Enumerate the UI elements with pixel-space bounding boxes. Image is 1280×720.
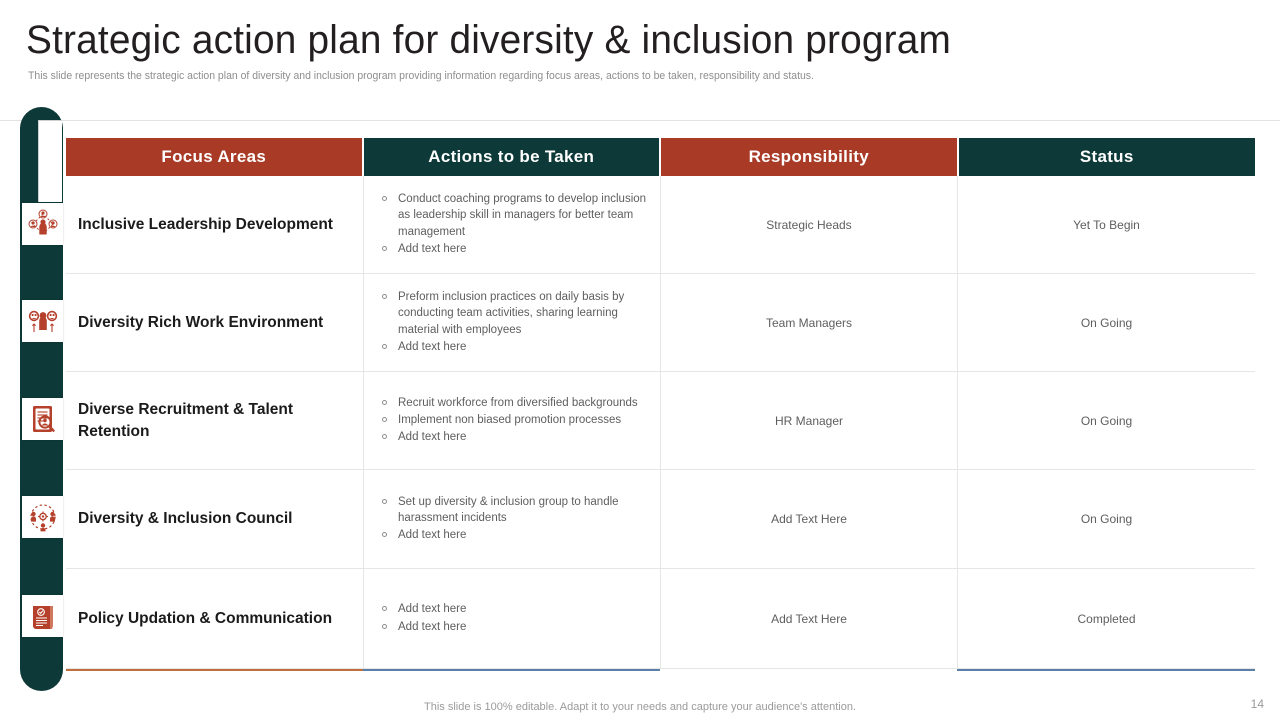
table-bottom-accent — [66, 669, 1255, 671]
table-body: Inclusive Leadership DevelopmentConduct … — [66, 176, 1255, 669]
responsibility-value: HR Manager — [775, 414, 843, 428]
action-item: Add text here — [380, 429, 638, 445]
focus-area-label: Diverse Recruitment & Talent Retention — [78, 399, 353, 443]
focus-area-label: Policy Updation & Communication — [78, 608, 332, 630]
table-row[interactable]: Policy Updation & CommunicationAdd text … — [66, 569, 1255, 669]
status-badge: On Going — [1081, 512, 1132, 526]
action-item: Set up diversity & inclusion group to ha… — [380, 494, 650, 527]
action-list: Add text hereAdd text here — [380, 601, 466, 636]
cell-responsibility: Team Managers — [660, 274, 957, 371]
accent-segment-4 — [957, 669, 1255, 671]
column-header-responsibility[interactable]: Responsibility — [661, 138, 957, 176]
action-item: Add text here — [380, 527, 650, 543]
cell-actions: Conduct coaching programs to develop inc… — [363, 176, 660, 273]
action-plan-table: Focus Areas Actions to be Taken Responsi… — [66, 138, 1255, 671]
action-item: Add text here — [380, 241, 650, 257]
responsibility-value: Team Managers — [766, 316, 852, 330]
focus-area-label: Diversity & Inclusion Council — [78, 508, 292, 530]
accent-segment-2 — [363, 669, 660, 671]
cell-status: On Going — [957, 372, 1255, 469]
table-header-row: Focus Areas Actions to be Taken Responsi… — [66, 138, 1255, 176]
action-item: Conduct coaching programs to develop inc… — [380, 191, 650, 240]
page-number: 14 — [1251, 697, 1264, 711]
cell-focus-area: Inclusive Leadership Development — [66, 176, 363, 273]
action-item: Preform inclusion practices on daily bas… — [380, 289, 650, 338]
cell-focus-area: Diversity Rich Work Environment — [66, 274, 363, 371]
cell-focus-area: Policy Updation & Communication — [66, 569, 363, 668]
action-item: Add text here — [380, 339, 650, 355]
table-row[interactable]: Diversity & Inclusion CouncilSet up dive… — [66, 470, 1255, 569]
page-title: Strategic action plan for diversity & in… — [26, 18, 951, 63]
focus-area-label: Inclusive Leadership Development — [78, 214, 333, 236]
table-row[interactable]: Diversity Rich Work EnvironmentPreform i… — [66, 274, 1255, 372]
cell-responsibility: Strategic Heads — [660, 176, 957, 273]
status-badge: Completed — [1077, 612, 1135, 626]
responsibility-value: Add Text Here — [771, 512, 847, 526]
recruitment-search-icon — [22, 398, 63, 440]
action-list: Set up diversity & inclusion group to ha… — [380, 494, 650, 545]
accent-segment-1 — [66, 669, 363, 671]
column-header-status[interactable]: Status — [959, 138, 1256, 176]
column-header-actions[interactable]: Actions to be Taken — [364, 138, 660, 176]
policy-document-icon — [22, 595, 63, 637]
table-row[interactable]: Diverse Recruitment & Talent RetentionRe… — [66, 372, 1255, 470]
column-header-focus-areas[interactable]: Focus Areas — [66, 138, 362, 176]
cell-responsibility: HR Manager — [660, 372, 957, 469]
action-list: Conduct coaching programs to develop inc… — [380, 191, 650, 258]
status-badge: On Going — [1081, 414, 1132, 428]
status-badge: On Going — [1081, 316, 1132, 330]
action-item: Add text here — [380, 601, 466, 617]
footer-note: This slide is 100% editable. Adapt it to… — [0, 701, 1280, 713]
cell-actions: Recruit workforce from diversified backg… — [363, 372, 660, 469]
inclusive-leadership-icon — [22, 203, 63, 245]
cell-focus-area: Diversity & Inclusion Council — [66, 470, 363, 568]
focus-area-label: Diversity Rich Work Environment — [78, 312, 323, 334]
left-accent-notch — [38, 120, 62, 202]
accent-segment-3 — [660, 669, 957, 671]
cell-actions: Preform inclusion practices on daily bas… — [363, 274, 660, 371]
responsibility-value: Strategic Heads — [766, 218, 851, 232]
action-item: Implement non biased promotion processes — [380, 412, 638, 428]
cell-status: On Going — [957, 470, 1255, 568]
diversity-workplace-icon — [22, 300, 63, 342]
cell-responsibility: Add Text Here — [660, 470, 957, 568]
cell-status: Completed — [957, 569, 1255, 668]
cell-actions: Add text hereAdd text here — [363, 569, 660, 668]
table-row[interactable]: Inclusive Leadership DevelopmentConduct … — [66, 176, 1255, 274]
cell-actions: Set up diversity & inclusion group to ha… — [363, 470, 660, 568]
header-divider — [0, 120, 1280, 121]
status-badge: Yet To Begin — [1073, 218, 1140, 232]
action-list: Recruit workforce from diversified backg… — [380, 395, 638, 447]
inclusion-council-icon — [22, 496, 63, 538]
action-item: Add text here — [380, 619, 466, 635]
cell-responsibility: Add Text Here — [660, 569, 957, 668]
cell-status: Yet To Begin — [957, 176, 1255, 273]
page-subtitle: This slide represents the strategic acti… — [28, 70, 814, 82]
responsibility-value: Add Text Here — [771, 612, 847, 626]
action-item: Recruit workforce from diversified backg… — [380, 395, 638, 411]
cell-status: On Going — [957, 274, 1255, 371]
action-list: Preform inclusion practices on daily bas… — [380, 289, 650, 356]
cell-focus-area: Diverse Recruitment & Talent Retention — [66, 372, 363, 469]
